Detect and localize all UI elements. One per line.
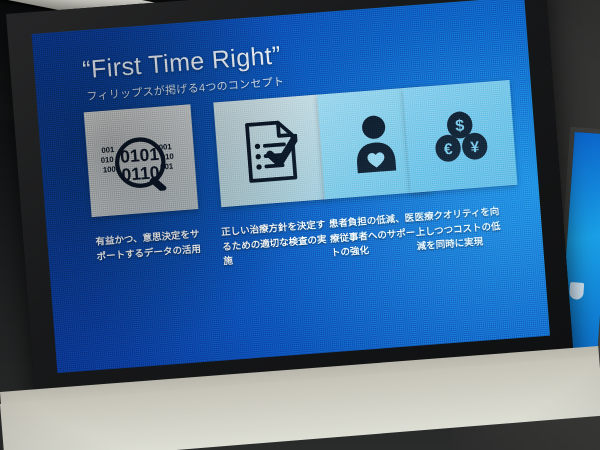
svg-text:¥: ¥ (469, 138, 479, 156)
concept-tile-examination (213, 94, 328, 207)
concept-caption: 有益かつ、意思決定をサポートするデータの活用 (95, 227, 209, 265)
concept-caption: 正しい治療方針を決定するための適切な検査の実施 (221, 218, 330, 270)
svg-text:010: 010 (100, 154, 113, 164)
person-with-heart-icon (347, 111, 401, 175)
svg-text:001: 001 (101, 144, 115, 154)
concept-tile-row: 001 010 100 001 010 001 0101 0110 (84, 80, 516, 228)
concept-tile-cost-quality: $ € ¥ (403, 80, 518, 193)
display-screen: “First Time Right” フィリップスが掲げる4つのコンセプト (32, 0, 550, 373)
presentation-slide: “First Time Right” フィリップスが掲げる4つのコンセプト (32, 0, 550, 373)
svg-text:$: $ (454, 116, 464, 135)
concept-tile-data: 001 010 100 001 010 001 0101 0110 (84, 104, 199, 217)
magnifier-binary-data-icon: 001 010 100 001 010 001 0101 0110 (97, 127, 185, 195)
concept-caption: 患者負担の低減、医療従事者へのサポートの強化 (328, 211, 419, 262)
svg-text:€: € (443, 140, 453, 158)
photo-scene: “First Time Right” フィリップスが掲げる4つのコンセプト (0, 0, 600, 450)
concept-caption: 医療クオリティを向上しつつコストの低減を同時に実現 (414, 205, 503, 256)
three-currency-coins-icon: $ € ¥ (432, 108, 488, 166)
svg-text:100: 100 (102, 164, 115, 174)
main-led-display: “First Time Right” フィリップスが掲げる4つのコンセプト (6, 0, 574, 401)
document-checklist-check-icon (241, 118, 300, 184)
